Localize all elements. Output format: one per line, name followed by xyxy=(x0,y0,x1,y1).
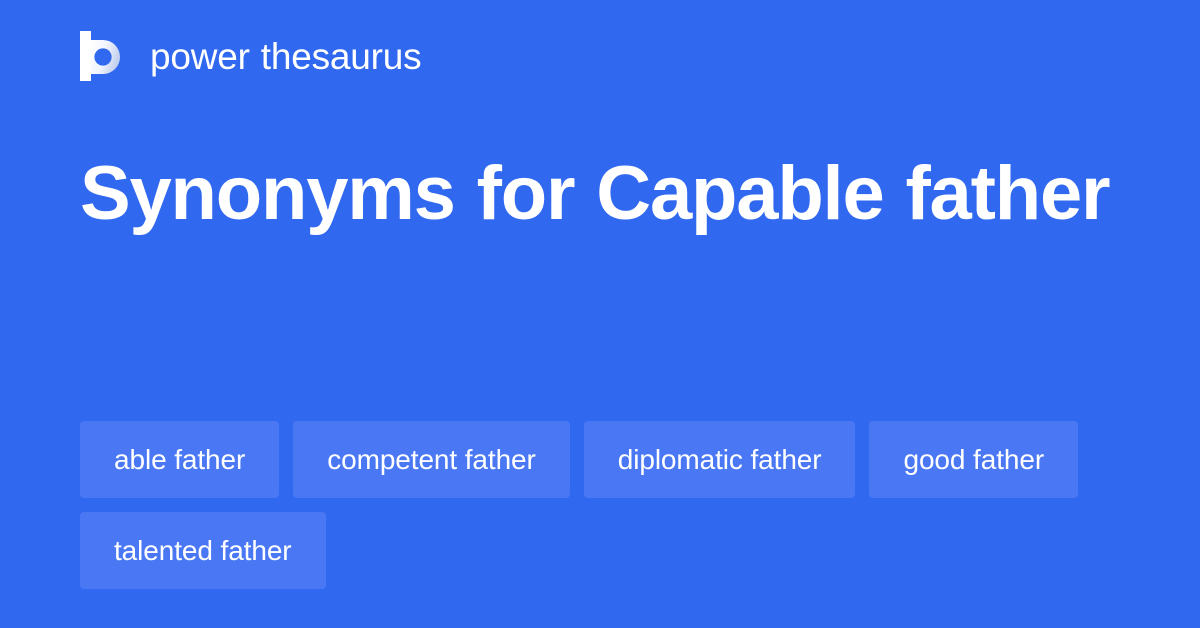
synonym-chip[interactable]: good father xyxy=(869,421,1078,498)
share-card: power thesaurus Synonyms for Capable fat… xyxy=(0,0,1200,628)
page-title: Synonyms for Capable father xyxy=(80,139,1120,249)
brand-word-power: power xyxy=(150,38,250,75)
synonym-chip[interactable]: able father xyxy=(80,421,279,498)
synonym-chip[interactable]: competent father xyxy=(293,421,570,498)
synonym-chip-list: able father competent father diplomatic … xyxy=(80,421,1120,589)
power-thesaurus-b-logo-icon xyxy=(80,31,126,81)
synonym-chip[interactable]: talented father xyxy=(80,512,326,589)
synonym-chip[interactable]: diplomatic father xyxy=(584,421,856,498)
brand-word-thesaurus: thesaurus xyxy=(261,38,422,75)
brand-header[interactable]: power thesaurus xyxy=(80,28,421,84)
brand-name: power thesaurus xyxy=(150,38,421,75)
